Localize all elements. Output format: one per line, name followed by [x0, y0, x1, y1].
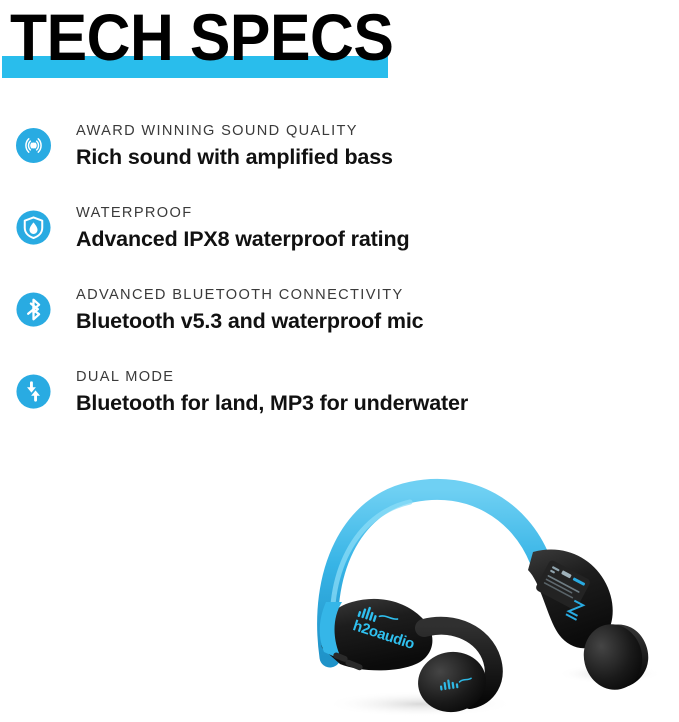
feature-row: WATERPROOF Advanced IPX8 waterproof rati… [0, 204, 679, 286]
feature-row: AWARD WINNING SOUND QUALITY Rich sound w… [0, 122, 679, 204]
page-title: TECH SPECS [10, 2, 393, 72]
feature-list: AWARD WINNING SOUND QUALITY Rich sound w… [0, 122, 679, 450]
feature-headline: Rich sound with amplified bass [76, 144, 671, 171]
sound-waves-icon [16, 128, 51, 163]
feature-row: ADVANCED BLUETOOTH CONNECTIVITY Bluetoot… [0, 286, 679, 368]
feature-label: DUAL MODE [76, 368, 671, 387]
product-photo: h2oaudio [0, 452, 679, 722]
feature-text-block: DUAL MODE Bluetooth for land, MP3 for un… [76, 368, 671, 417]
shield-water-drop-icon [16, 210, 51, 245]
feature-headline: Bluetooth for land, MP3 for underwater [76, 390, 671, 417]
feature-label: AWARD WINNING SOUND QUALITY [76, 122, 671, 141]
dual-arrows-icon [16, 374, 51, 409]
feature-headline: Bluetooth v5.3 and waterproof mic [76, 308, 671, 335]
feature-label: WATERPROOF [76, 204, 671, 223]
feature-text-block: WATERPROOF Advanced IPX8 waterproof rati… [76, 204, 671, 253]
feature-label: ADVANCED BLUETOOTH CONNECTIVITY [76, 286, 671, 305]
feature-text-block: AWARD WINNING SOUND QUALITY Rich sound w… [76, 122, 671, 171]
bluetooth-icon [16, 292, 51, 327]
page-title-block: TECH SPECS [0, 0, 679, 96]
feature-row: DUAL MODE Bluetooth for land, MP3 for un… [0, 368, 679, 450]
feature-headline: Advanced IPX8 waterproof rating [76, 226, 671, 253]
feature-text-block: ADVANCED BLUETOOTH CONNECTIVITY Bluetoot… [76, 286, 671, 335]
